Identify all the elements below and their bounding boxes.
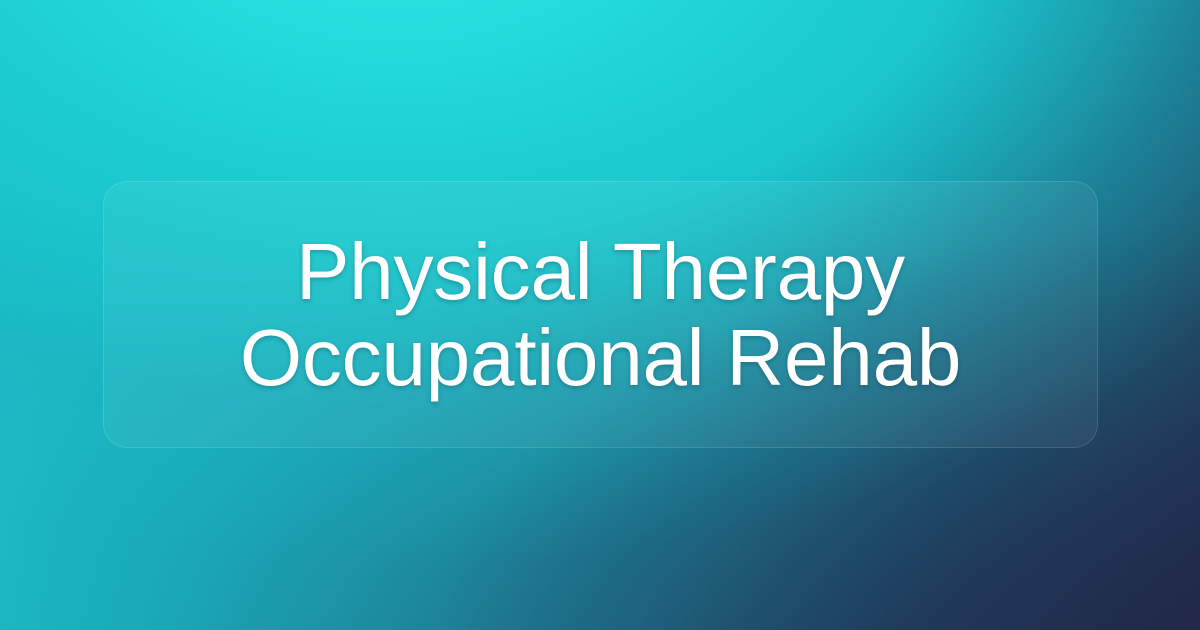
title-card: Physical Therapy Occupational Rehab [103, 181, 1098, 448]
page-title: Physical Therapy Occupational Rehab [104, 229, 1097, 401]
hero-banner: Physical Therapy Occupational Rehab [0, 0, 1200, 630]
